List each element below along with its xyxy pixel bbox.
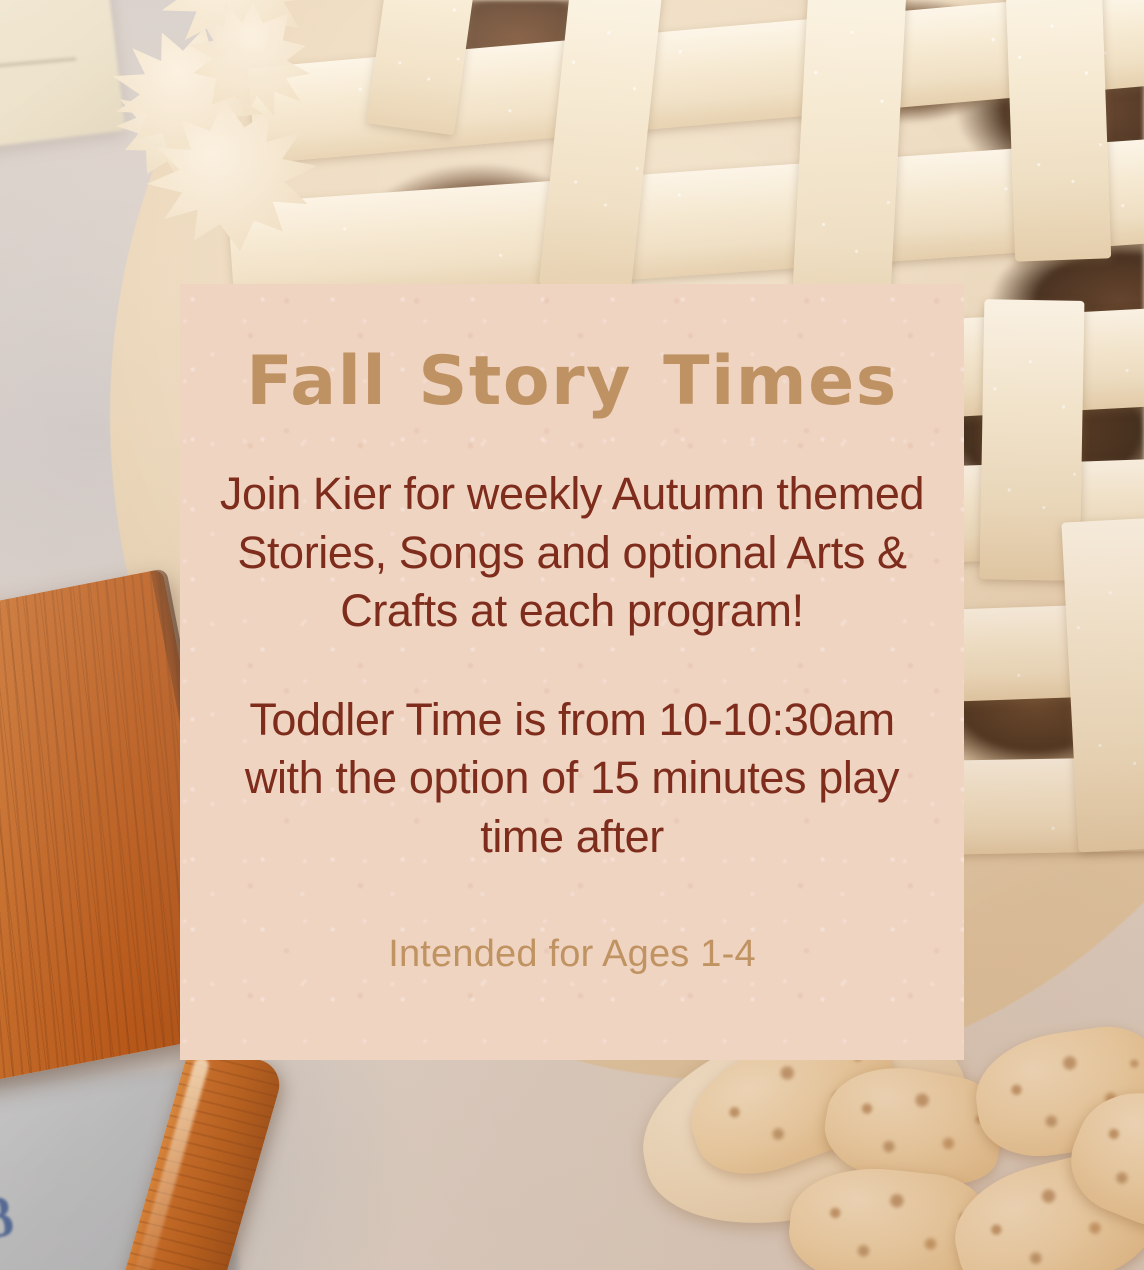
cinnamon-apple-slices xyxy=(700,1038,1144,1270)
schedule-line-2: with the option of 15 minutes play xyxy=(206,749,938,808)
lattice-strip xyxy=(1005,0,1111,262)
ages-note: Intended for Ages 1-4 xyxy=(206,866,938,978)
poster: 8 Fall Story Times Join Kier for weekly … xyxy=(0,0,1144,1270)
intro-line-1: Join Kier for weekly Autumn themed xyxy=(206,465,938,524)
schedule-paragraph: Toddler Time is from 10-10:30am with the… xyxy=(206,691,938,867)
schedule-line-1: Toddler Time is from 10-10:30am xyxy=(206,691,938,750)
intro-line-2: Stories, Songs and optional Arts & xyxy=(206,524,938,583)
page-title: Fall Story Times xyxy=(206,332,938,417)
intro-paragraph: Join Kier for weekly Autumn themed Stori… xyxy=(206,417,938,641)
paragraph-spacer xyxy=(206,641,938,691)
intro-line-3: Crafts at each program! xyxy=(206,582,938,641)
schedule-line-3: time after xyxy=(206,808,938,867)
lattice-strip xyxy=(228,137,1144,308)
text-card: Fall Story Times Join Kier for weekly Au… xyxy=(180,284,964,1060)
